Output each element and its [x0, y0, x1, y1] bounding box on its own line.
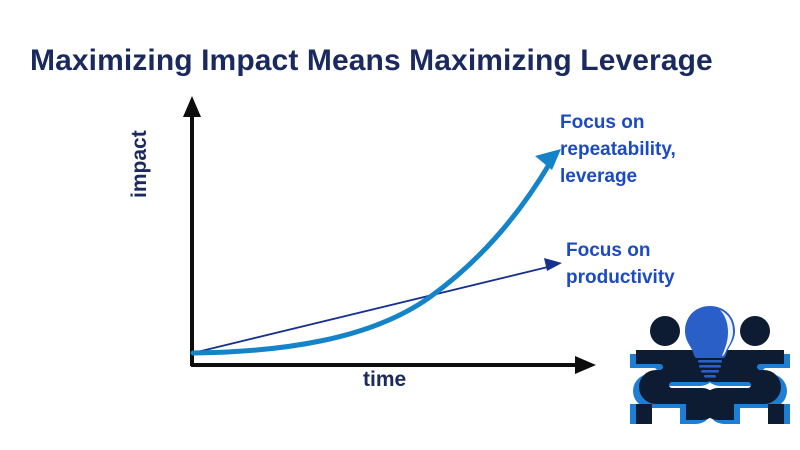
- x-axis-label: time: [363, 368, 406, 392]
- x-axis-arrowhead: [575, 356, 596, 374]
- y-axis-label: impact: [128, 130, 152, 198]
- bulb-base-line-3: [701, 370, 719, 373]
- annotation-leverage: Focus on repeatability, leverage: [560, 110, 785, 191]
- series-leverage: [193, 149, 561, 353]
- left-figure-head: [650, 316, 680, 346]
- productivity-arrowhead: [544, 258, 562, 271]
- productivity-line: [193, 266, 552, 353]
- bulb-base-line-2: [699, 365, 721, 368]
- bulb-base-line-1: [698, 360, 722, 363]
- y-axis-arrowhead: [183, 96, 201, 117]
- left-figure-leg: [636, 404, 652, 424]
- right-figure-leg: [768, 404, 784, 424]
- right-figure-head: [740, 316, 770, 346]
- annotation-productivity: Focus on productivity: [566, 238, 786, 292]
- y-axis: [183, 96, 201, 366]
- bulb-glass: [685, 306, 735, 358]
- leverage-curve: [193, 163, 550, 353]
- two-people-lightbulb-logo: [624, 300, 796, 432]
- slide-canvas: Maximizing Impact Means Maximizing Lever…: [0, 0, 800, 450]
- bulb-base-line-4: [704, 375, 716, 378]
- series-productivity: [193, 258, 562, 353]
